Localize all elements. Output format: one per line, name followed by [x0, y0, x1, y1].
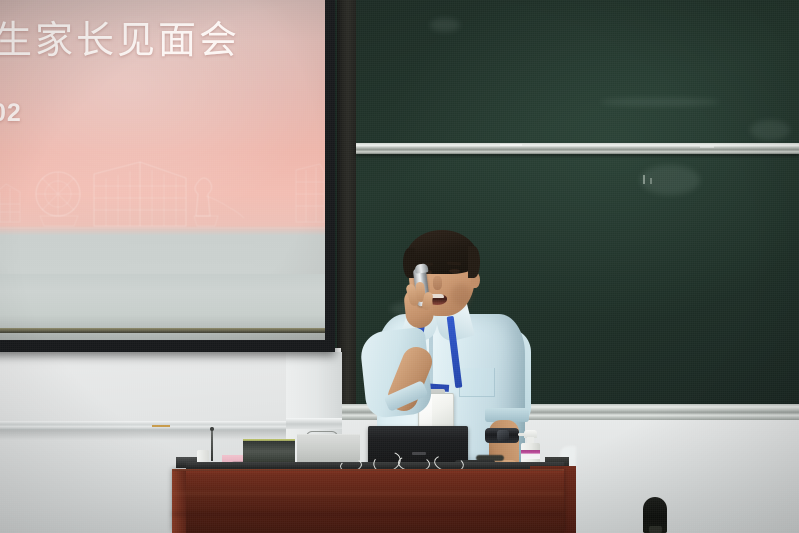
nose — [433, 276, 442, 290]
chalk-mark — [643, 175, 645, 184]
chalk-smudge — [640, 165, 700, 195]
shirt-pocket — [459, 368, 495, 397]
chalk-mark — [650, 178, 652, 184]
podium-grain — [172, 512, 564, 516]
hair-side — [468, 246, 480, 278]
chalk-smudge — [430, 18, 460, 32]
slide-subtitle: 02 — [0, 101, 22, 126]
screen-bottom-edge — [0, 328, 325, 333]
cheek-shadow — [451, 284, 471, 306]
chalk-smudge — [750, 120, 790, 140]
podium-left-face — [172, 471, 186, 533]
chalk-smudge — [600, 98, 720, 106]
pillar-rail — [286, 418, 342, 429]
microphone-head — [415, 263, 429, 274]
wall-rail-marker — [152, 425, 170, 427]
rail-highlight — [700, 146, 714, 148]
receiver-antenna — [211, 429, 213, 461]
podium-grain — [172, 492, 564, 495]
screen-lower-band — [0, 274, 325, 332]
slide-title: 生家长见面会 — [0, 22, 240, 60]
sanitizer-label — [521, 450, 540, 459]
antenna-tip — [210, 427, 214, 431]
wooden-podium — [172, 471, 564, 533]
bag-strap — [649, 526, 662, 533]
rail-highlight — [500, 144, 522, 146]
chalkboard-rail — [356, 143, 799, 154]
lecture-hall-photo: 生家长见面会 02 — [0, 0, 799, 533]
watch-face — [497, 430, 509, 441]
eye — [449, 269, 460, 273]
